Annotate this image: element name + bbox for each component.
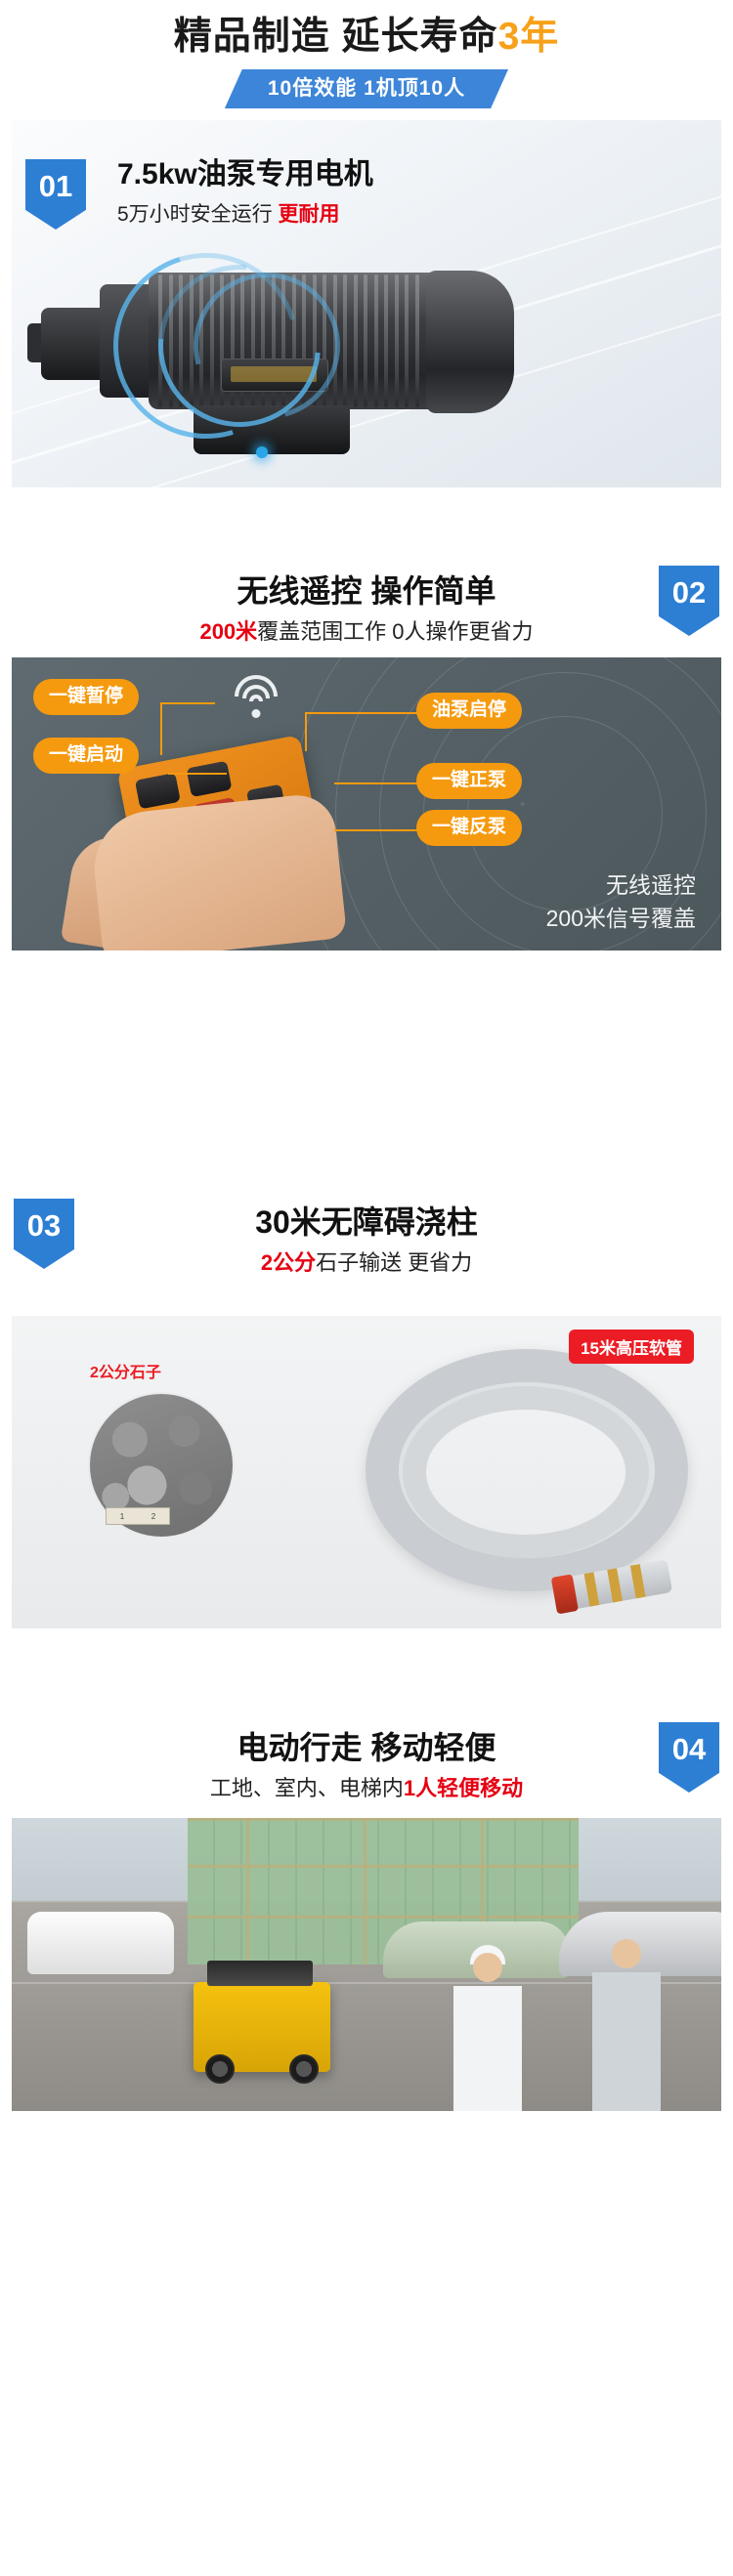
callout-leader	[305, 712, 420, 714]
header-ribbon-wrap: 10倍效能 1机顶10人	[0, 69, 733, 108]
motor-fin	[343, 274, 347, 407]
motor-fin	[354, 274, 358, 407]
section-04-subtitle: 工地、室内、电梯内1人轻便移动	[0, 1773, 733, 1804]
header-ribbon: 10倍效能 1机顶10人	[225, 69, 508, 108]
hose-gravel-photo-panel: 1 2 15米高压软管 2公分石子	[12, 1316, 721, 1628]
corner-line-1: 无线遥控	[546, 869, 696, 902]
callout-pump-toggle: 油泵启停	[416, 693, 522, 729]
section-04-title: 电动行走 移动轻便	[0, 1728, 733, 1769]
motor-fin	[415, 274, 419, 407]
callout-leader	[305, 712, 307, 751]
white-van	[27, 1912, 174, 1974]
ruler-scale: 1 2	[106, 1507, 170, 1525]
callout-leader	[160, 702, 162, 755]
hose-inner-coil	[403, 1386, 649, 1558]
ruler-mark: 1	[120, 1512, 124, 1521]
callout-reverse-pump: 一键反泵	[416, 810, 522, 846]
remote-control-photo-panel: 一键暂停 一键启动 油泵启停 一键正泵 一键反泵 无线遥控 200米信号覆盖	[12, 657, 721, 950]
callout-start: 一键启动	[33, 738, 139, 774]
page-title: 精品制造 延长寿命3年	[0, 14, 733, 62]
section-04-sub-plain: 工地、室内、电梯内	[210, 1776, 404, 1800]
callout-leader	[334, 829, 420, 831]
motor-fin	[374, 274, 378, 407]
motor-fin	[405, 274, 409, 407]
page-title-accent: 3年	[498, 16, 560, 58]
section-04-head: 04 电动行走 移动轻便 工地、室内、电梯内1人轻便移动	[0, 1728, 733, 1803]
motor-photo-panel: 01 7.5kw油泵专用电机 5万小时安全运行 更耐用 /*fins injec…	[12, 120, 721, 487]
coupler-ring	[584, 1572, 600, 1606]
section-01: 01 7.5kw油泵专用电机 5万小时安全运行 更耐用 /*fins injec…	[0, 120, 733, 501]
motor-end-cap-right	[426, 271, 514, 413]
worker-person	[592, 1972, 661, 2111]
worker-person	[453, 1986, 522, 2111]
machine-wheel	[205, 2054, 235, 2084]
coupler-ring	[630, 1564, 646, 1598]
section-03-title: 30米无障碍浇柱	[0, 1203, 733, 1244]
callout-forward-pump: 一键正泵	[416, 763, 522, 799]
section-02-head: 02 无线遥控 操作简单 200米覆盖范围工作 0人操作更省力	[0, 571, 733, 647]
page-header: 精品制造 延长寿命3年 10倍效能 1机顶10人	[0, 0, 733, 108]
section-03-subtitle: 2公分石子输送 更省力	[0, 1247, 733, 1279]
worker-head	[473, 1953, 502, 1982]
concrete-pump-machine	[194, 1982, 330, 2072]
remote-button	[187, 761, 233, 797]
coupler-ring	[607, 1568, 623, 1602]
motor-fin	[384, 274, 388, 407]
section-03-sub-accent: 2公分	[261, 1250, 316, 1275]
section-02-sub-accent: 200米	[199, 619, 257, 644]
ruler-mark: 2	[151, 1512, 155, 1521]
machine-hopper	[207, 1961, 313, 1986]
section-04: 04 电动行走 移动轻便 工地、室内、电梯内1人轻便移动	[0, 1728, 733, 2138]
section-02-corner-text: 无线遥控 200米信号覆盖	[546, 869, 696, 935]
remote-button	[135, 773, 181, 809]
wifi-signal-icon	[229, 675, 283, 718]
callout-leader	[160, 702, 215, 704]
label-gravel-size: 2公分石子	[90, 1359, 161, 1382]
hose-coupler-tip	[551, 1574, 579, 1614]
covered-car-grey	[559, 1912, 721, 1976]
section-03-sub-plain: 石子输送 更省力	[316, 1250, 472, 1275]
led-indicator-icon	[256, 446, 268, 458]
motor-illustration: /*fins injected below*/	[12, 214, 721, 487]
page-title-main: 精品制造 延长寿命	[174, 16, 498, 58]
callout-leader	[168, 773, 227, 775]
section-03: 03 30米无障碍浇柱 2公分石子输送 更省力 1 2 15米高压软管 2公分石…	[0, 1203, 733, 1652]
section-01-title: 7.5kw油泵专用电机	[117, 155, 373, 193]
section-02-sub-plain: 覆盖范围工作 0人操作更省力	[257, 619, 533, 644]
section-03-head: 03 30米无障碍浇柱 2公分石子输送 更省力	[0, 1203, 733, 1278]
hand-holding-remote	[89, 791, 347, 950]
worker-head	[612, 1939, 641, 1968]
jobsite-photo-panel	[12, 1818, 721, 2111]
section-04-sub-accent: 1人轻便移动	[404, 1776, 523, 1800]
section-02: 02 无线遥控 操作简单 200米覆盖范围工作 0人操作更省力	[0, 571, 733, 1128]
label-hose-length: 15米高压软管	[569, 1330, 694, 1364]
section-02-subtitle: 200米覆盖范围工作 0人操作更省力	[0, 616, 733, 648]
motor-fin	[395, 274, 399, 407]
corner-line-2: 200米信号覆盖	[546, 903, 696, 935]
machine-wheel	[289, 2054, 319, 2084]
callout-pause: 一键暂停	[33, 679, 139, 715]
section-02-title: 无线遥控 操作简单	[0, 571, 733, 612]
callout-leader	[334, 782, 420, 784]
motor-fin	[364, 274, 367, 407]
